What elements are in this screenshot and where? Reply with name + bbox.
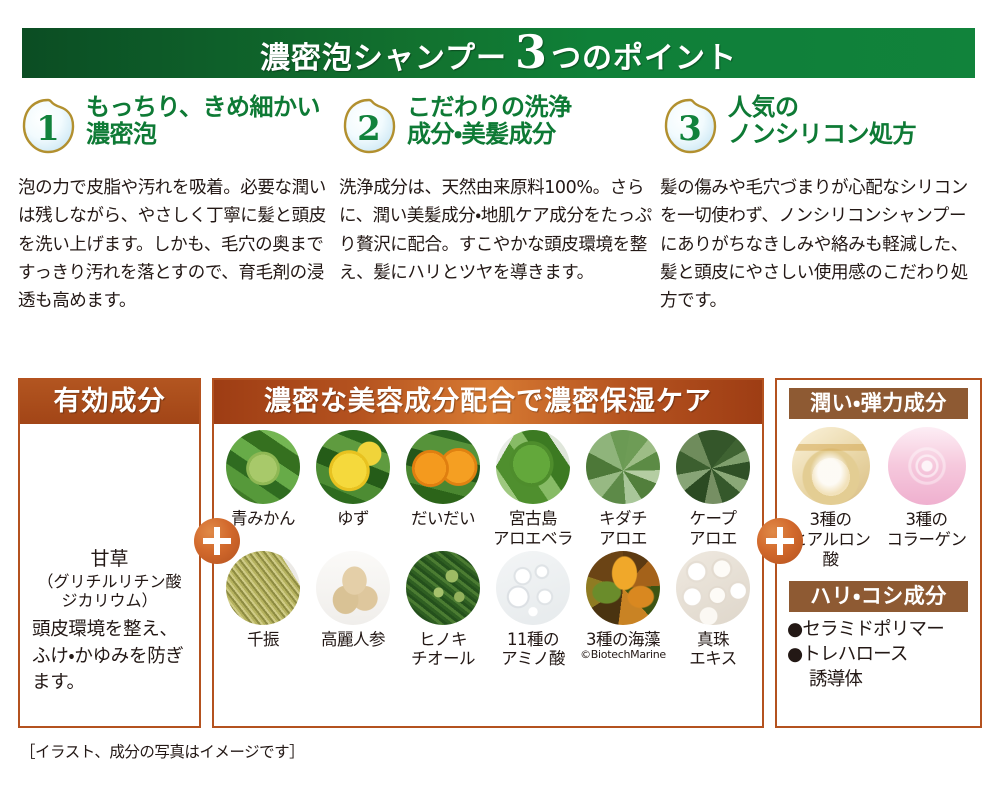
ingredient-label: ケープ アロエ: [668, 509, 758, 549]
ingredient-label-note: ©BiotechMarine: [578, 649, 668, 661]
ingredient-label: 11種の アミノ酸: [488, 630, 578, 670]
points-row: 1 もっちり、きめ細かい 濃密泡 泡の力で皮脂や汚れを吸着。必要な潤いは残しなが…: [18, 92, 982, 316]
point-1-head: 1 もっちり、きめ細かい 濃密泡: [18, 92, 331, 168]
seaweed-photo: [586, 551, 660, 625]
ingredient-cell: ケープ アロエ: [668, 430, 758, 549]
point-2-title: こだわりの洗浄 成分・美髪成分: [407, 92, 572, 149]
ingredient-label-line2: アロエ: [578, 529, 668, 549]
ingredient-label-line1: だいだい: [398, 509, 488, 529]
ingredient-label-line1: 11種の: [488, 630, 578, 650]
ingredient-label: だいだい: [398, 509, 488, 529]
ingredient-label: 真珠 エキス: [668, 630, 758, 670]
ingredient-cell: だいだい: [398, 430, 488, 549]
firmness-bullet-list: ●セラミドポリマー ●トレハロース 誘導体: [777, 612, 980, 693]
aloe-vera-photo: [496, 430, 570, 504]
ingredient-label-line1: 3種の海藻: [578, 630, 668, 650]
efficacy-panel-header: 有効成分: [20, 380, 199, 424]
ingredient-label-line2: アロエベラ: [488, 529, 578, 549]
droplet-badge-icon: 3: [660, 96, 722, 156]
droplet-badge-icon: 1: [18, 96, 80, 156]
bullet-text: トレハロース: [802, 644, 907, 665]
ingredient-label: 宮古島 アロエベラ: [488, 509, 578, 549]
banner-title-after: つのポイント: [551, 33, 737, 77]
licorice-root-photo: [48, 432, 172, 542]
droplet-badge-icon: 2: [339, 96, 401, 156]
efficacy-panel: 有効成分 甘草 （グリチルリチン酸 ジカリウム） 頭皮環境を整え、ふけ・かゆみを…: [18, 378, 201, 728]
ingredient-cell: 真珠 エキス: [668, 551, 758, 670]
bullet-item: ●トレハロース: [787, 643, 980, 668]
point-3-head: 3 人気の ノンシリコン処方: [660, 92, 973, 168]
ingredient-label-line1: キダチ: [578, 509, 668, 529]
point-2-head: 2 こだわりの洗浄 成分・美髪成分: [339, 92, 652, 168]
collagen-photo: [888, 427, 966, 505]
bullet-marker-icon: ●: [787, 644, 802, 665]
ingredient-label-line2: エキス: [668, 649, 758, 669]
ginseng-photo: [316, 551, 390, 625]
banner-title-before: 濃密泡シャンプー: [260, 33, 507, 77]
point-1: 1 もっちり、きめ細かい 濃密泡 泡の力で皮脂や汚れを吸着。必要な潤いは残しなが…: [18, 92, 339, 316]
title-banner: 濃密泡シャンプー 3 つのポイント: [22, 28, 975, 78]
bullet-marker-icon: ●: [787, 619, 802, 640]
moisture-item: 3種の コラーゲン: [882, 427, 972, 569]
ingredient-label: 千振: [218, 630, 308, 650]
ingredient-label: 3種の海藻 ©BiotechMarine: [578, 630, 668, 662]
ingredient-label-line1: ゆず: [308, 509, 398, 529]
pearl-photo: [676, 551, 750, 625]
efficacy-ingredient-sub-line2: ジカリウム）: [26, 591, 193, 611]
point-1-body: 泡の力で皮脂や汚れを吸着。必要な潤いは残しながら、やさしく丁寧に髪と頭皮を洗い上…: [18, 174, 331, 316]
ingredient-cell: 千振: [218, 551, 308, 670]
bullet-item-continuation: 誘導体: [787, 668, 980, 693]
ingredient-label-line2: チオール: [398, 649, 488, 669]
point-2: 2 こだわりの洗浄 成分・美髪成分 洗浄成分は、天然由来原料100%。さらに、潤…: [339, 92, 660, 316]
moisture-items: 3種の ヒアルロン 酸 3種の コラーゲン: [777, 419, 980, 569]
point-3: 3 人気の ノンシリコン処方 髪の傷みや毛穴づまりが心配なシリコンを一切使わず、…: [660, 92, 981, 316]
efficacy-panel-body: 甘草 （グリチルリチン酸 ジカリウム） 頭皮環境を整え、ふけ・かゆみを防ぎます。: [20, 424, 199, 703]
ingredient-cell: ヒノキ チオール: [398, 551, 488, 670]
efficacy-ingredient-name: 甘草: [26, 548, 193, 572]
banner-title: 濃密泡シャンプー 3 つのポイント: [260, 29, 737, 77]
ingredient-label-line1: ヒノキ: [398, 630, 488, 650]
point-2-title-line2: 成分・美髪成分: [407, 121, 572, 148]
yuzu-photo: [316, 430, 390, 504]
point-3-body: 髪の傷みや毛穴づまりが心配なシリコンを一切使わず、ノンシリコンシャンプーにありが…: [660, 174, 973, 316]
ingredient-label: 高麗人参: [308, 630, 398, 650]
moisture-label-line1: 3種の: [786, 510, 876, 530]
point-3-title-line1: 人気の: [728, 94, 916, 121]
plus-icon: [757, 518, 803, 564]
plus-icon: [194, 518, 240, 564]
moisture-label-line2: コラーゲン: [882, 530, 972, 550]
hinoki-cypress-photo: [406, 551, 480, 625]
ingredient-cell: 宮古島 アロエベラ: [488, 430, 578, 549]
hyaluronic-acid-photo: [792, 427, 870, 505]
point-1-title-line1: もっちり、きめ細かい: [86, 94, 320, 121]
ingredient-cell: キダチ アロエ: [578, 430, 668, 549]
moisture-panel: 潤い・弾力成分 3種の ヒアルロン 酸 3種の コラーゲン ハリ・コシ成分: [775, 378, 982, 728]
ingredient-label-line1: 高麗人参: [308, 630, 398, 650]
beauty-panel: 濃密な美容成分配合で濃密保湿ケア 青みかん ゆず だいだい: [212, 378, 764, 728]
ingredient-label-line1: 宮古島: [488, 509, 578, 529]
senburi-herb-photo: [226, 551, 300, 625]
beauty-panel-header: 濃密な美容成分配合で濃密保湿ケア: [214, 380, 762, 424]
bullet-text: セラミドポリマー: [802, 619, 944, 640]
point-1-title: もっちり、きめ細かい 濃密泡: [86, 92, 320, 149]
amino-acid-droplets-photo: [496, 551, 570, 625]
point-2-number: 2: [339, 106, 399, 152]
efficacy-description: 頭皮環境を整え、ふけ・かゆみを防ぎます。: [26, 617, 193, 697]
ingredient-cell: 11種の アミノ酸: [488, 551, 578, 670]
point-3-title-line2: ノンシリコン処方: [728, 121, 916, 148]
point-2-title-line1: こだわりの洗浄: [407, 94, 572, 121]
moisture-label-line1: 3種の: [882, 510, 972, 530]
ingredient-cell: ゆず: [308, 430, 398, 549]
ingredient-label-line1: ケープ: [668, 509, 758, 529]
point-3-number: 3: [660, 106, 720, 152]
beauty-ingredient-grid: 青みかん ゆず だいだい 宮古島 アロエベラ: [214, 424, 762, 671]
ingredient-label-line2: アミノ酸: [488, 649, 578, 669]
bullet-item: ●セラミドポリマー: [787, 618, 980, 643]
cape-aloe-photo: [676, 430, 750, 504]
point-3-title: 人気の ノンシリコン処方: [728, 92, 916, 149]
moisture-item-label: 3種の コラーゲン: [882, 510, 972, 550]
ingredient-label: ゆず: [308, 509, 398, 529]
kidachi-aloe-photo: [586, 430, 660, 504]
point-2-body: 洗浄成分は、天然由来原料100%。さらに、潤い美髪成分・地肌ケア成分をたっぷり贅…: [339, 174, 652, 287]
ingredient-label-line2: アロエ: [668, 529, 758, 549]
ingredient-panels: 有効成分 甘草 （グリチルリチン酸 ジカリウム） 頭皮環境を整え、ふけ・かゆみを…: [18, 378, 982, 728]
banner-title-number: 3: [515, 29, 548, 75]
footnote: ［イラスト、成分の写真はイメージです］: [20, 740, 304, 762]
point-1-title-line2: 濃密泡: [86, 121, 320, 148]
moisture-panel-header-2: ハリ・コシ成分: [789, 581, 968, 612]
ingredient-cell: 3種の海藻 ©BiotechMarine: [578, 551, 668, 670]
ingredient-label: ヒノキ チオール: [398, 630, 488, 670]
ingredient-cell: 高麗人参: [308, 551, 398, 670]
efficacy-ingredient-sub-line1: （グリチルリチン酸: [26, 572, 193, 592]
moisture-panel-header-1: 潤い・弾力成分: [789, 388, 968, 419]
ingredient-label-line1: 千振: [218, 630, 308, 650]
ingredient-label: キダチ アロエ: [578, 509, 668, 549]
daidai-orange-photo: [406, 430, 480, 504]
ingredient-label-line1: 真珠: [668, 630, 758, 650]
green-mandarin-photo: [226, 430, 300, 504]
point-1-number: 1: [18, 106, 78, 152]
